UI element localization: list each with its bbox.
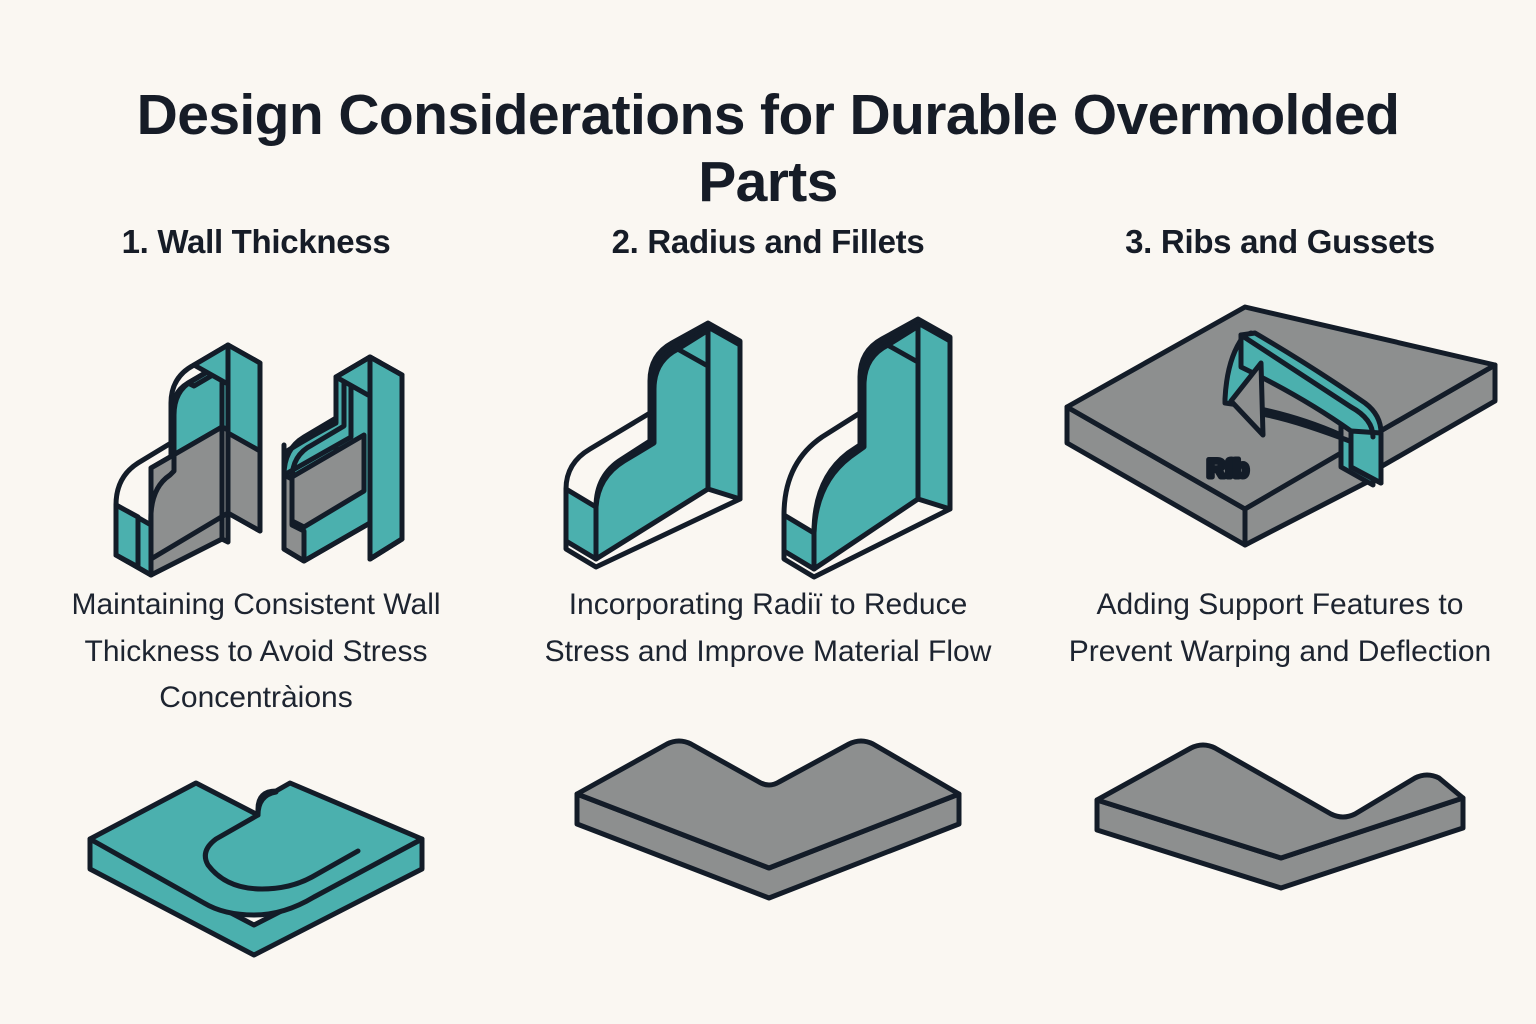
column-radius-fillets: 2. Radius and Fillets [512, 212, 1024, 960]
figure-teal-notched-plate [6, 760, 506, 960]
column-heading-2: 2. Radius and Fillets [612, 212, 925, 272]
figure-gray-stepped-plate [1030, 713, 1530, 913]
figure-gray-chevron-plate [518, 713, 1018, 913]
column-caption-1: Maintaining Consistent Wall Thickness to… [26, 582, 486, 722]
page-title: Design Considerations for Durable Overmo… [100, 82, 1436, 217]
column-ribs-gussets: 3. Ribs and Gussets [1024, 212, 1536, 960]
column-caption-2: Incorporating Radiï to Reduce Stress and… [538, 582, 998, 675]
infographic-poster: Design Considerations for Durable Overmo… [0, 0, 1536, 1024]
column-heading-3: 3. Ribs and Gussets [1125, 212, 1435, 272]
figure-rib-gusset-plate: Rfb [1030, 272, 1530, 582]
figure-wall-thickness-bracket-pair [6, 272, 506, 582]
figure-fillet-radius-bracket-pair [518, 272, 1018, 582]
column-heading-1: 1. Wall Thickness [122, 212, 391, 272]
columns-container: 1. Wall Thickness [0, 212, 1536, 960]
rib-label: Rfb [1207, 455, 1249, 483]
column-caption-3: Adding Support Features to Prevent Warpi… [1050, 582, 1510, 675]
column-wall-thickness: 1. Wall Thickness [0, 212, 512, 960]
